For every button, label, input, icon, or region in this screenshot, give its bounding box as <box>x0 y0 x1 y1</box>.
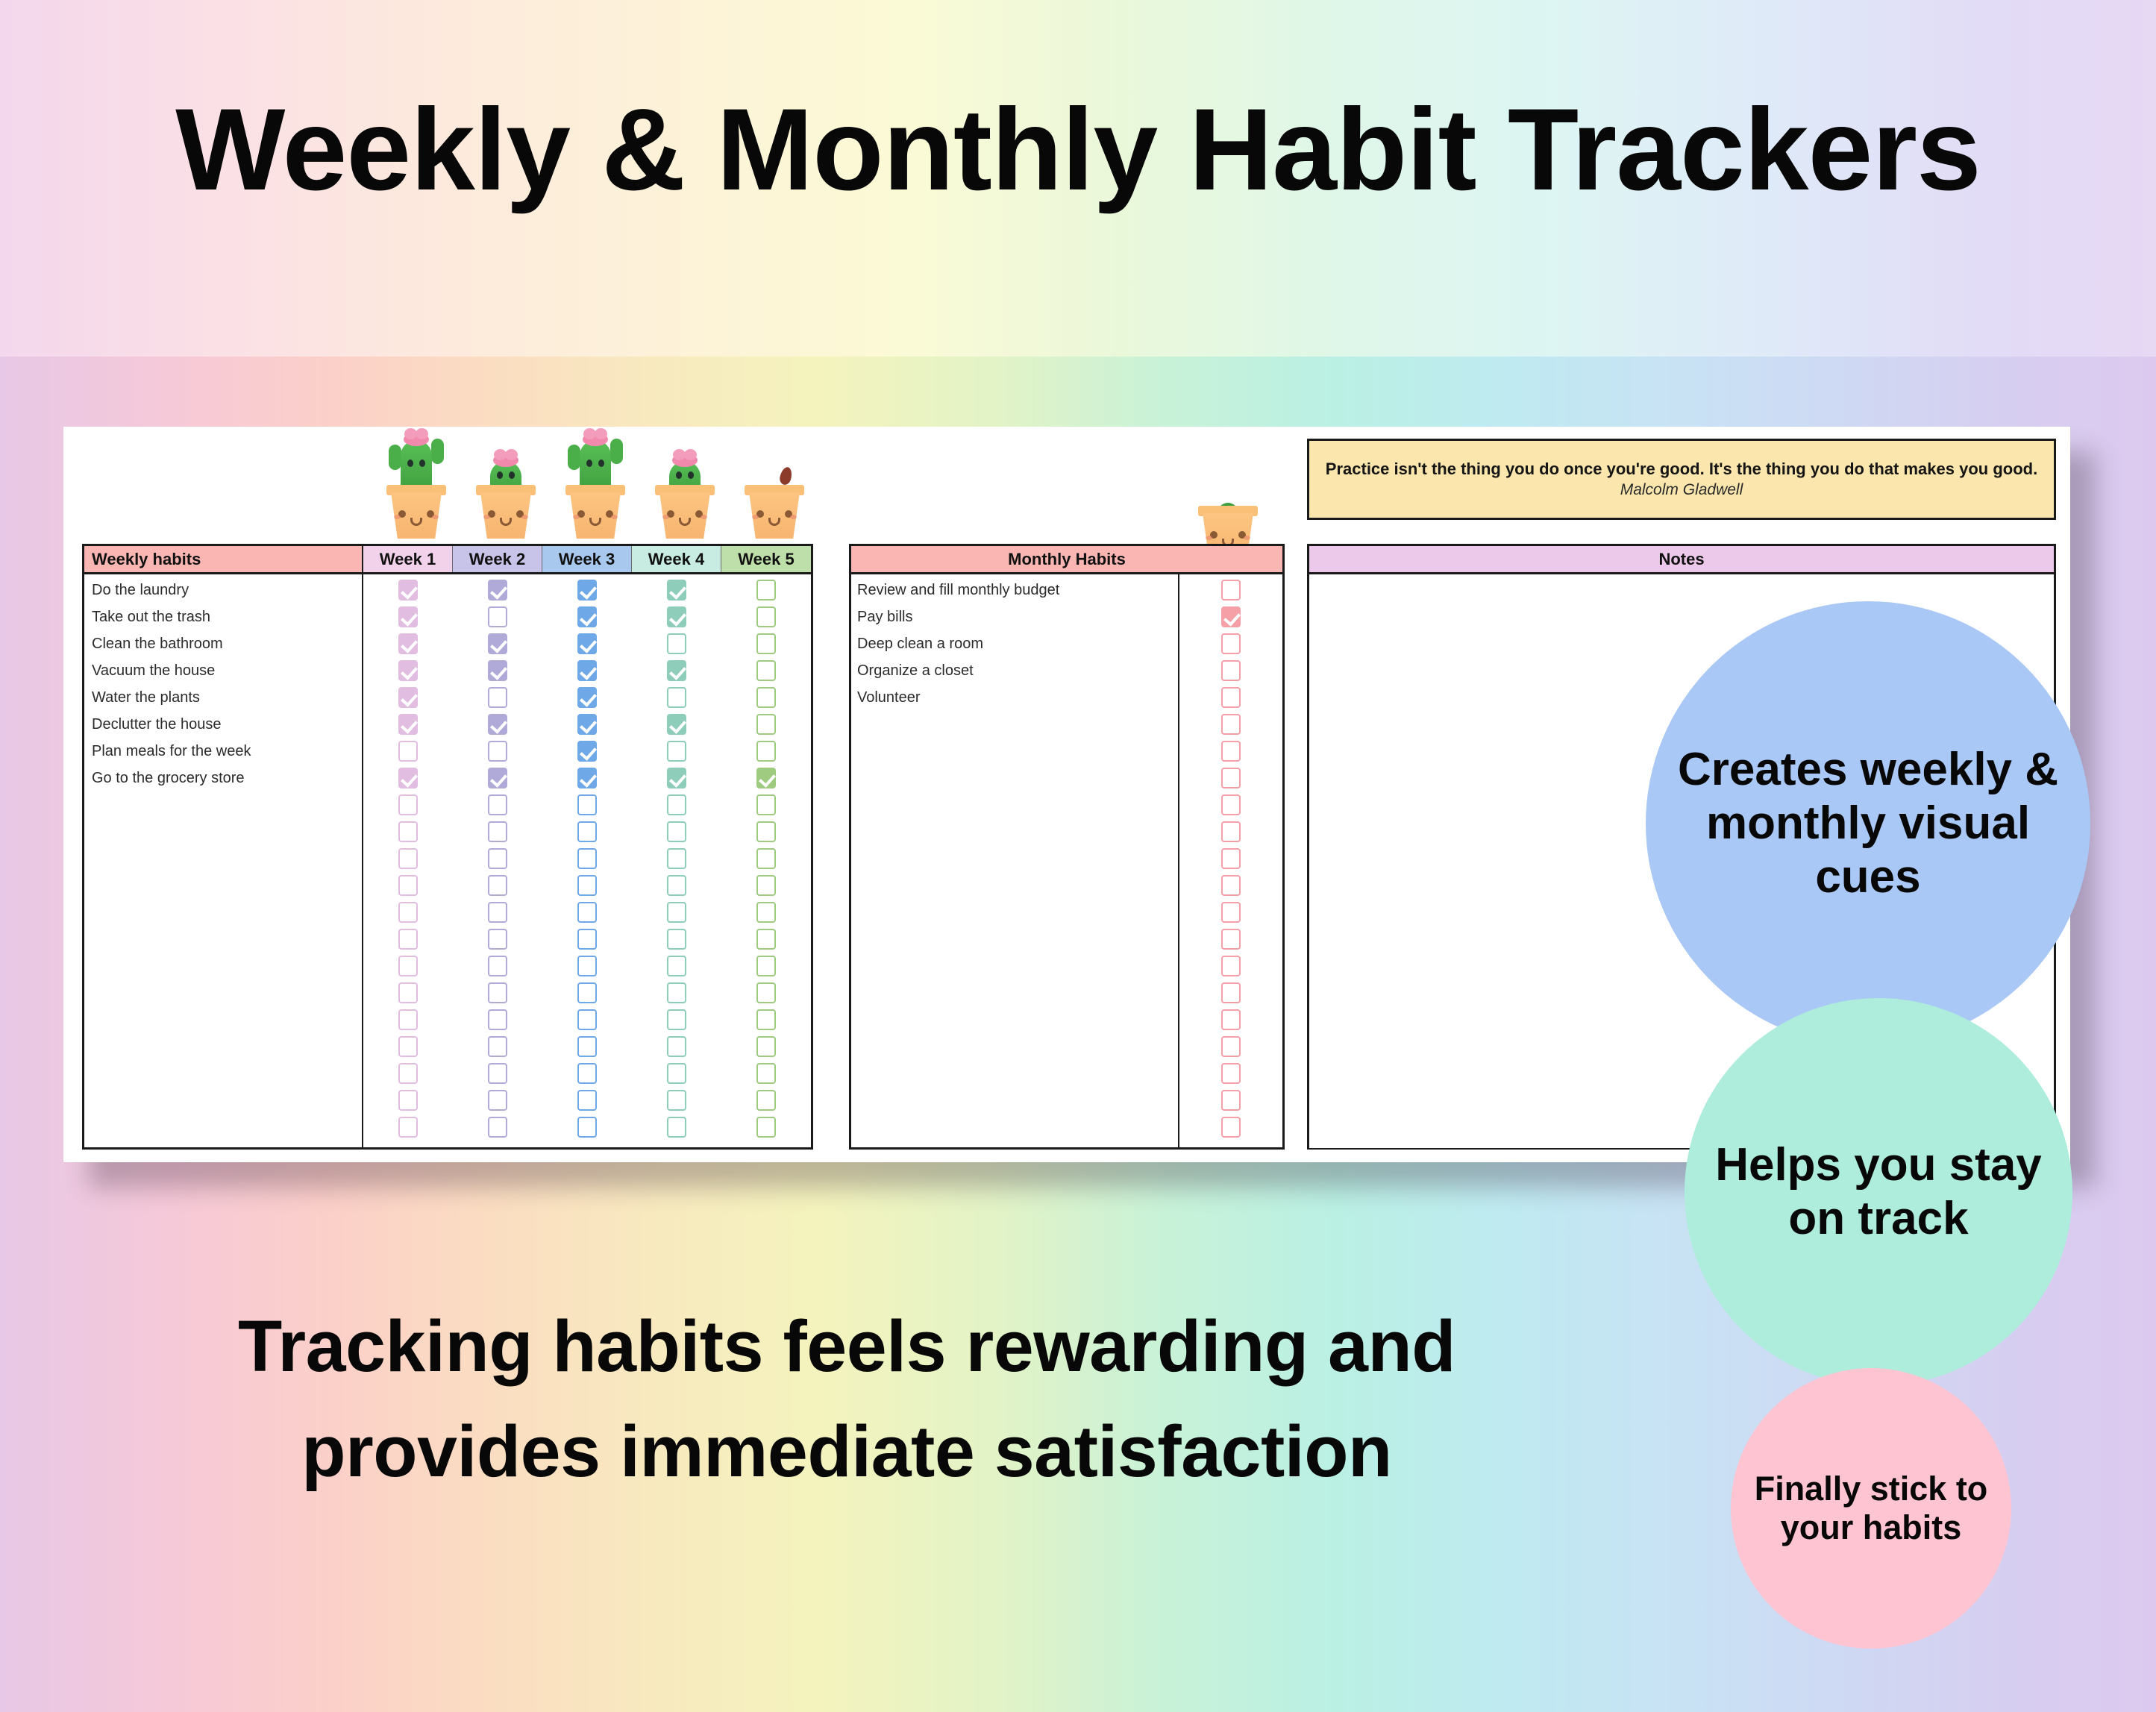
weekly-cell[interactable] <box>453 711 542 738</box>
monthly-habit-label-empty[interactable] <box>851 872 1178 899</box>
monthly-cell[interactable] <box>1179 765 1282 791</box>
checkbox-monthly-empty11[interactable] <box>1221 982 1241 1003</box>
checkbox-monthly-empty6[interactable] <box>1221 848 1241 869</box>
checkbox-week3-row6[interactable] <box>577 714 597 735</box>
weekly-cell[interactable] <box>453 899 542 926</box>
checkbox-week4-empty5[interactable] <box>667 902 686 923</box>
checkbox-week3-empty13[interactable] <box>577 1117 597 1138</box>
checkbox-week5-empty1[interactable] <box>756 794 776 815</box>
checkbox-week3-row3[interactable] <box>577 633 597 654</box>
weekly-habit-label[interactable]: Plan meals for the week <box>84 738 362 765</box>
weekly-cell[interactable] <box>363 603 453 630</box>
checkbox-week4-empty6[interactable] <box>667 929 686 950</box>
checkbox-week4-empty9[interactable] <box>667 1009 686 1030</box>
checkbox-week2-row8[interactable] <box>488 768 507 788</box>
checkbox-week3-empty4[interactable] <box>577 875 597 896</box>
checkbox-week3-empty8[interactable] <box>577 982 597 1003</box>
weekly-habit-label-empty[interactable] <box>84 899 362 926</box>
weekly-cell[interactable] <box>632 845 721 872</box>
checkbox-week1-row1[interactable] <box>398 580 418 601</box>
checkbox-week5-row3[interactable] <box>756 633 776 654</box>
checkbox-week4-empty3[interactable] <box>667 848 686 869</box>
monthly-habit-label-empty[interactable] <box>851 953 1178 979</box>
weekly-cell[interactable] <box>542 872 632 899</box>
checkbox-week2-empty5[interactable] <box>488 902 507 923</box>
weekly-habit-label-empty[interactable] <box>84 1114 362 1141</box>
bottom-tagline: Tracking habits feels rewarding and prov… <box>82 1294 1611 1504</box>
checkbox-monthly-empty7[interactable] <box>1221 875 1241 896</box>
monthly-habit-label-empty[interactable] <box>851 845 1178 872</box>
weekly-habit-label-empty[interactable] <box>84 953 362 979</box>
weekly-cell[interactable] <box>453 765 542 791</box>
monthly-habit-label-empty[interactable] <box>851 765 1178 791</box>
weekly-cell[interactable] <box>363 818 453 845</box>
weekly-cell[interactable] <box>721 738 811 765</box>
weekly-cell[interactable] <box>453 630 542 657</box>
weekly-cell[interactable] <box>453 1060 542 1087</box>
monthly-habit-label-empty[interactable] <box>851 1087 1178 1114</box>
monthly-habit-label[interactable]: Organize a closet <box>851 657 1178 684</box>
weekly-cell[interactable] <box>632 953 721 979</box>
weekly-cell[interactable] <box>721 926 811 953</box>
weekly-cell[interactable] <box>721 953 811 979</box>
weekly-cell[interactable] <box>542 765 632 791</box>
checkbox-week4-row5[interactable] <box>667 687 686 708</box>
checkbox-week2-row1[interactable] <box>488 580 507 601</box>
checkbox-week1-empty11[interactable] <box>398 1063 418 1084</box>
checkbox-week5-empty11[interactable] <box>756 1063 776 1084</box>
checkbox-week1-empty9[interactable] <box>398 1009 418 1030</box>
checkbox-week4-empty10[interactable] <box>667 1036 686 1057</box>
checkbox-monthly-empty12[interactable] <box>1221 1009 1241 1030</box>
checkbox-week4-row3[interactable] <box>667 633 686 654</box>
checkbox-monthly-empty4[interactable] <box>1221 794 1241 815</box>
weekly-cell[interactable] <box>721 603 811 630</box>
checkbox-monthly-empty14[interactable] <box>1221 1063 1241 1084</box>
checkbox-week5-empty12[interactable] <box>756 1090 776 1111</box>
weekly-habit-label-empty[interactable] <box>84 926 362 953</box>
checkbox-week5-row1[interactable] <box>756 580 776 601</box>
weekly-cell[interactable] <box>542 1087 632 1114</box>
weekly-cell[interactable] <box>453 657 542 684</box>
monthly-cell[interactable] <box>1179 1114 1282 1141</box>
weekly-habit-label[interactable]: Vacuum the house <box>84 657 362 684</box>
weekly-cell[interactable] <box>721 1087 811 1114</box>
checkbox-week1-empty12[interactable] <box>398 1090 418 1111</box>
checkbox-week4-empty12[interactable] <box>667 1090 686 1111</box>
weekly-cell[interactable] <box>363 577 453 603</box>
weekly-cell[interactable] <box>363 791 453 818</box>
weekly-cell[interactable] <box>721 711 811 738</box>
checkbox-week3-row5[interactable] <box>577 687 597 708</box>
weekly-cell[interactable] <box>542 1060 632 1087</box>
weekly-cell[interactable] <box>632 899 721 926</box>
monthly-habit-label[interactable]: Volunteer <box>851 684 1178 711</box>
weekly-cell[interactable] <box>453 1033 542 1060</box>
checkbox-week3-row7[interactable] <box>577 741 597 762</box>
weekly-cell[interactable] <box>721 577 811 603</box>
checkbox-week2-row2[interactable] <box>488 606 507 627</box>
weekly-cell[interactable] <box>632 791 721 818</box>
checkbox-week4-empty4[interactable] <box>667 875 686 896</box>
weekly-cell[interactable] <box>542 845 632 872</box>
checkbox-monthly-empty3[interactable] <box>1221 768 1241 788</box>
checkbox-monthly-empty13[interactable] <box>1221 1036 1241 1057</box>
weekly-habit-label-empty[interactable] <box>84 979 362 1006</box>
monthly-habit-label[interactable]: Review and fill monthly budget <box>851 577 1178 603</box>
weekly-cell[interactable] <box>363 845 453 872</box>
weekly-habit-label[interactable]: Water the plants <box>84 684 362 711</box>
weekly-cell[interactable] <box>632 738 721 765</box>
checkbox-week2-empty9[interactable] <box>488 1009 507 1030</box>
checkbox-week5-empty7[interactable] <box>756 956 776 976</box>
monthly-cell[interactable] <box>1179 1033 1282 1060</box>
weekly-cell[interactable] <box>632 630 721 657</box>
weekly-cell[interactable] <box>453 926 542 953</box>
weekly-cell[interactable] <box>542 603 632 630</box>
weekly-cell[interactable] <box>363 738 453 765</box>
weekly-cell[interactable] <box>632 1060 721 1087</box>
weekly-cell[interactable] <box>632 765 721 791</box>
weekly-cell[interactable] <box>632 603 721 630</box>
checkbox-monthly-row4[interactable] <box>1221 660 1241 681</box>
monthly-habit-label-empty[interactable] <box>851 791 1178 818</box>
checkbox-week5-row8[interactable] <box>756 768 776 788</box>
weekly-cell[interactable] <box>721 791 811 818</box>
monthly-cell[interactable] <box>1179 684 1282 711</box>
checkbox-week5-row7[interactable] <box>756 741 776 762</box>
weekly-cell[interactable] <box>542 899 632 926</box>
checkbox-week5-empty5[interactable] <box>756 902 776 923</box>
weekly-cell[interactable] <box>632 657 721 684</box>
monthly-cell[interactable] <box>1179 899 1282 926</box>
checkbox-monthly-empty1[interactable] <box>1221 714 1241 735</box>
checkbox-week1-empty6[interactable] <box>398 929 418 950</box>
checkbox-week4-row7[interactable] <box>667 741 686 762</box>
checkbox-week5-empty4[interactable] <box>756 875 776 896</box>
checkbox-week4-empty1[interactable] <box>667 794 686 815</box>
monthly-cell[interactable] <box>1179 953 1282 979</box>
checkbox-week1-empty3[interactable] <box>398 848 418 869</box>
weekly-cell[interactable] <box>542 791 632 818</box>
monthly-cell[interactable] <box>1179 577 1282 603</box>
checkbox-week3-empty11[interactable] <box>577 1063 597 1084</box>
checkbox-monthly-row1[interactable] <box>1221 580 1241 601</box>
monthly-habit-label[interactable]: Pay bills <box>851 603 1178 630</box>
monthly-habit-label-empty[interactable] <box>851 899 1178 926</box>
weekly-cell[interactable] <box>453 818 542 845</box>
weekly-cell[interactable] <box>632 1033 721 1060</box>
checkbox-week3-empty9[interactable] <box>577 1009 597 1030</box>
checkbox-week2-row6[interactable] <box>488 714 507 735</box>
checkbox-week1-empty2[interactable] <box>398 821 418 842</box>
checkbox-week1-empty4[interactable] <box>398 875 418 896</box>
checkbox-week5-row5[interactable] <box>756 687 776 708</box>
checkbox-week2-empty7[interactable] <box>488 956 507 976</box>
checkbox-week1-row4[interactable] <box>398 660 418 681</box>
checkbox-monthly-empty16[interactable] <box>1221 1117 1241 1138</box>
weekly-cell[interactable] <box>453 845 542 872</box>
weekly-cell[interactable] <box>542 979 632 1006</box>
weekly-cell[interactable] <box>632 577 721 603</box>
weekly-cell[interactable] <box>542 1006 632 1033</box>
weekly-habit-label-empty[interactable] <box>84 1006 362 1033</box>
checkbox-monthly-empty10[interactable] <box>1221 956 1241 976</box>
weekly-cell[interactable] <box>632 711 721 738</box>
checkbox-week2-empty4[interactable] <box>488 875 507 896</box>
checkbox-week2-empty11[interactable] <box>488 1063 507 1084</box>
weekly-cell[interactable] <box>721 1033 811 1060</box>
checkbox-monthly-empty8[interactable] <box>1221 902 1241 923</box>
monthly-cell[interactable] <box>1179 872 1282 899</box>
checkbox-week5-empty9[interactable] <box>756 1009 776 1030</box>
checkbox-week5-row2[interactable] <box>756 606 776 627</box>
benefit-bubble-stay-on-track: Helps you stay on track <box>1685 998 2072 1386</box>
weekly-cell[interactable] <box>721 872 811 899</box>
checkbox-week5-empty13[interactable] <box>756 1117 776 1138</box>
weekly-cell[interactable] <box>542 657 632 684</box>
monthly-cell[interactable] <box>1179 979 1282 1006</box>
week-column-1 <box>363 577 453 1148</box>
checkbox-week3-empty1[interactable] <box>577 794 597 815</box>
weekly-cell[interactable] <box>453 1114 542 1141</box>
monthly-habit-label-empty[interactable] <box>851 1033 1178 1060</box>
weekly-cell[interactable] <box>363 872 453 899</box>
checkbox-week1-empty10[interactable] <box>398 1036 418 1057</box>
monthly-habit-label-empty[interactable] <box>851 1114 1178 1141</box>
checkbox-week1-row3[interactable] <box>398 633 418 654</box>
weekly-cell[interactable] <box>453 738 542 765</box>
checkbox-week3-empty5[interactable] <box>577 902 597 923</box>
checkbox-week2-empty10[interactable] <box>488 1036 507 1057</box>
monthly-cell[interactable] <box>1179 791 1282 818</box>
monthly-cell[interactable] <box>1179 845 1282 872</box>
checkbox-week4-row1[interactable] <box>667 580 686 601</box>
checkbox-week2-empty1[interactable] <box>488 794 507 815</box>
weekly-cell[interactable] <box>542 1033 632 1060</box>
week-column-5 <box>721 577 811 1148</box>
weekly-habit-label-empty[interactable] <box>84 1033 362 1060</box>
monthly-cell[interactable] <box>1179 818 1282 845</box>
weekly-habit-label-empty[interactable] <box>84 845 362 872</box>
weekly-cell[interactable] <box>363 899 453 926</box>
monthly-habit-label-empty[interactable] <box>851 1060 1178 1087</box>
weekly-cell[interactable] <box>721 684 811 711</box>
weekly-cell[interactable] <box>721 1114 811 1141</box>
weekly-cell[interactable] <box>542 577 632 603</box>
weekly-cell[interactable] <box>721 899 811 926</box>
checkbox-monthly-empty9[interactable] <box>1221 929 1241 950</box>
weekly-cell[interactable] <box>721 657 811 684</box>
checkbox-monthly-row3[interactable] <box>1221 633 1241 654</box>
weekly-cell[interactable] <box>632 1087 721 1114</box>
checkbox-week4-empty2[interactable] <box>667 821 686 842</box>
weekly-habit-label-empty[interactable] <box>84 1087 362 1114</box>
checkbox-week1-row8[interactable] <box>398 768 418 788</box>
weekly-cell[interactable] <box>721 845 811 872</box>
weekly-cell[interactable] <box>632 1006 721 1033</box>
checkbox-week4-row2[interactable] <box>667 606 686 627</box>
weekly-cell[interactable] <box>453 953 542 979</box>
checkbox-week5-empty2[interactable] <box>756 821 776 842</box>
weekly-cell[interactable] <box>453 791 542 818</box>
weekly-cell[interactable] <box>721 630 811 657</box>
checkbox-week2-empty8[interactable] <box>488 982 507 1003</box>
weekly-cell[interactable] <box>542 711 632 738</box>
monthly-cell[interactable] <box>1179 630 1282 657</box>
weekly-cell[interactable] <box>453 979 542 1006</box>
weekly-cell[interactable] <box>632 684 721 711</box>
checkbox-week4-empty13[interactable] <box>667 1117 686 1138</box>
monthly-cell[interactable] <box>1179 1087 1282 1114</box>
week-header-3: Week 3 <box>542 546 632 572</box>
weekly-cell[interactable] <box>363 630 453 657</box>
monthly-habit-label-empty[interactable] <box>851 738 1178 765</box>
monthly-habit-label[interactable]: Deep clean a room <box>851 630 1178 657</box>
checkbox-week5-empty10[interactable] <box>756 1036 776 1057</box>
weekly-cell[interactable] <box>363 657 453 684</box>
checkbox-week1-row6[interactable] <box>398 714 418 735</box>
checkbox-week4-empty11[interactable] <box>667 1063 686 1084</box>
checkbox-week1-row5[interactable] <box>398 687 418 708</box>
weekly-cell[interactable] <box>363 1033 453 1060</box>
checkbox-week2-empty13[interactable] <box>488 1117 507 1138</box>
monthly-habit-label-empty[interactable] <box>851 1006 1178 1033</box>
weekly-habit-label-empty[interactable] <box>84 1060 362 1087</box>
weekly-cell[interactable] <box>453 684 542 711</box>
weekly-cell[interactable] <box>632 926 721 953</box>
checkbox-week2-row3[interactable] <box>488 633 507 654</box>
checkbox-week5-empty3[interactable] <box>756 848 776 869</box>
weekly-cell[interactable] <box>721 818 811 845</box>
week-header-4: Week 4 <box>632 546 721 572</box>
monthly-habit-label-empty[interactable] <box>851 818 1178 845</box>
weekly-habit-label[interactable]: Declutter the house <box>84 711 362 738</box>
monthly-cell[interactable] <box>1179 657 1282 684</box>
weekly-habit-label[interactable]: Do the laundry <box>84 577 362 603</box>
checkbox-week5-row6[interactable] <box>756 714 776 735</box>
checkbox-week3-empty3[interactable] <box>577 848 597 869</box>
weekly-cell[interactable] <box>453 603 542 630</box>
checkbox-week1-row7[interactable] <box>398 741 418 762</box>
weekly-habit-label[interactable]: Clean the bathroom <box>84 630 362 657</box>
weekly-cell[interactable] <box>363 765 453 791</box>
checkbox-week4-row6[interactable] <box>667 714 686 735</box>
weekly-cell[interactable] <box>453 1006 542 1033</box>
checkbox-week2-row4[interactable] <box>488 660 507 681</box>
checkbox-week3-empty10[interactable] <box>577 1036 597 1057</box>
checkbox-week3-row2[interactable] <box>577 606 597 627</box>
checkbox-week4-empty8[interactable] <box>667 982 686 1003</box>
checkbox-week5-empty8[interactable] <box>756 982 776 1003</box>
checkbox-week3-empty12[interactable] <box>577 1090 597 1111</box>
weekly-cell[interactable] <box>453 1087 542 1114</box>
checkbox-monthly-empty2[interactable] <box>1221 741 1241 762</box>
weekly-cell[interactable] <box>542 818 632 845</box>
weekly-cell[interactable] <box>542 630 632 657</box>
checkbox-week5-empty6[interactable] <box>756 929 776 950</box>
checkbox-week2-empty12[interactable] <box>488 1090 507 1111</box>
weekly-cell[interactable] <box>632 1114 721 1141</box>
checkbox-week1-empty8[interactable] <box>398 982 418 1003</box>
weekly-cell[interactable] <box>542 1114 632 1141</box>
checkbox-week3-empty6[interactable] <box>577 929 597 950</box>
weekly-cell[interactable] <box>363 926 453 953</box>
weekly-cell[interactable] <box>363 1087 453 1114</box>
checkbox-week2-empty3[interactable] <box>488 848 507 869</box>
weekly-cell[interactable] <box>453 577 542 603</box>
checkbox-week1-empty1[interactable] <box>398 794 418 815</box>
weekly-habit-label-empty[interactable] <box>84 872 362 899</box>
checkbox-week3-row1[interactable] <box>577 580 597 601</box>
weekly-cell[interactable] <box>721 979 811 1006</box>
monthly-habit-label-empty[interactable] <box>851 926 1178 953</box>
checkbox-monthly-empty5[interactable] <box>1221 821 1241 842</box>
checkbox-monthly-row2[interactable] <box>1221 606 1241 627</box>
weekly-habit-label-empty[interactable] <box>84 791 362 818</box>
checkbox-week1-empty7[interactable] <box>398 956 418 976</box>
monthly-cell[interactable] <box>1179 1006 1282 1033</box>
weekly-cell[interactable] <box>632 872 721 899</box>
checkbox-week2-row5[interactable] <box>488 687 507 708</box>
weekly-cell[interactable] <box>363 979 453 1006</box>
checkbox-week3-row4[interactable] <box>577 660 597 681</box>
weekly-cell[interactable] <box>542 926 632 953</box>
checkbox-week4-row4[interactable] <box>667 660 686 681</box>
checkbox-week1-empty5[interactable] <box>398 902 418 923</box>
checkbox-week4-empty7[interactable] <box>667 956 686 976</box>
weekly-cell[interactable] <box>363 711 453 738</box>
checkbox-week1-row2[interactable] <box>398 606 418 627</box>
monthly-habit-label-empty[interactable] <box>851 711 1178 738</box>
checkbox-week4-row8[interactable] <box>667 768 686 788</box>
weekly-habit-label-empty[interactable] <box>84 818 362 845</box>
monthly-habit-label-empty[interactable] <box>851 979 1178 1006</box>
checkbox-week3-empty2[interactable] <box>577 821 597 842</box>
weekly-cell[interactable] <box>453 872 542 899</box>
weekly-habit-label[interactable]: Go to the grocery store <box>84 765 362 791</box>
checkbox-monthly-empty15[interactable] <box>1221 1090 1241 1111</box>
weekly-cell[interactable] <box>721 1060 811 1087</box>
weekly-cell[interactable] <box>363 684 453 711</box>
monthly-cell[interactable] <box>1179 926 1282 953</box>
checkbox-week2-empty2[interactable] <box>488 821 507 842</box>
weekly-cell[interactable] <box>721 765 811 791</box>
monthly-cell[interactable] <box>1179 1060 1282 1087</box>
checkbox-week2-empty6[interactable] <box>488 929 507 950</box>
weekly-cell[interactable] <box>632 818 721 845</box>
weekly-cell[interactable] <box>632 979 721 1006</box>
weekly-cell[interactable] <box>542 738 632 765</box>
monthly-cell[interactable] <box>1179 738 1282 765</box>
checkbox-monthly-row5[interactable] <box>1221 687 1241 708</box>
checkbox-week5-row4[interactable] <box>756 660 776 681</box>
checkbox-week3-empty7[interactable] <box>577 956 597 976</box>
weekly-habit-label[interactable]: Take out the trash <box>84 603 362 630</box>
checkbox-week1-empty13[interactable] <box>398 1117 418 1138</box>
checkbox-week2-row7[interactable] <box>488 741 507 762</box>
weekly-cell[interactable] <box>721 1006 811 1033</box>
monthly-cell[interactable] <box>1179 711 1282 738</box>
weekly-cell[interactable] <box>363 1060 453 1087</box>
weekly-cell[interactable] <box>363 953 453 979</box>
weekly-cell[interactable] <box>542 684 632 711</box>
monthly-cell[interactable] <box>1179 603 1282 630</box>
checkbox-week3-row8[interactable] <box>577 768 597 788</box>
weekly-cell[interactable] <box>363 1006 453 1033</box>
weekly-cell[interactable] <box>363 1114 453 1141</box>
weekly-cell[interactable] <box>542 953 632 979</box>
